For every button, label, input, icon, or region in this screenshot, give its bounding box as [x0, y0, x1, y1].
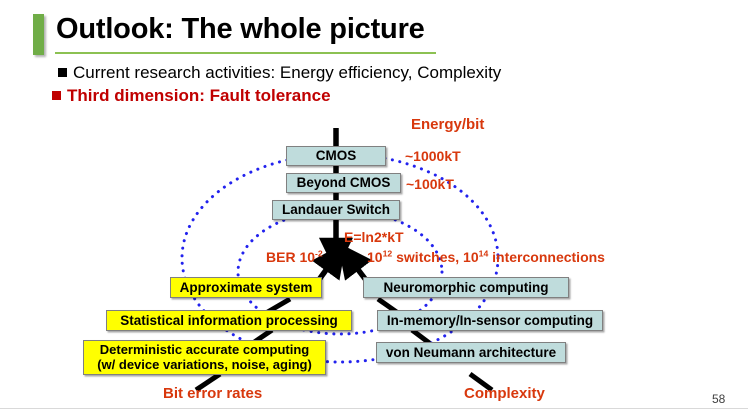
box-deterministic-accurate-computing[interactable]: Deterministic accurate computing (w/ dev…: [83, 340, 326, 375]
box-von-neumann-architecture[interactable]: von Neumann architecture: [376, 342, 566, 363]
box-cmos[interactable]: CMOS: [286, 146, 386, 166]
page-title: Outlook: The whole picture: [56, 13, 425, 46]
label-interconnect-text: interconnections: [488, 249, 605, 265]
label-complexity: Complexity: [464, 385, 545, 402]
label-energy-per-bit: Energy/bit: [411, 116, 484, 133]
box-label: Neuromorphic computing: [384, 280, 549, 295]
box-label: CMOS: [316, 148, 357, 163]
box-statistical-information-processing[interactable]: Statistical information processing: [106, 310, 352, 331]
box-label-line-1: Deterministic accurate computing: [100, 343, 310, 358]
label-switches-mid: switches, 10: [392, 249, 478, 265]
label-beyond-cmos-energy: ~100kT: [406, 176, 454, 192]
box-neuromorphic-computing[interactable]: Neuromorphic computing: [363, 277, 569, 298]
box-label: Approximate system: [180, 280, 313, 295]
label-ber-text: BER 10: [266, 249, 315, 265]
box-label: von Neumann architecture: [386, 345, 556, 360]
label-switches-interconnections: 1012 switches, 1014 interconnections: [367, 249, 605, 265]
square-bullet-icon: [58, 68, 67, 77]
box-label: Statistical information processing: [120, 313, 338, 328]
bullet-label: Third dimension: Fault tolerance: [67, 86, 331, 105]
box-label: Landauer Switch: [282, 202, 390, 217]
label-switches-base: 10: [367, 249, 383, 265]
title-underline: [55, 52, 436, 54]
label-cmos-energy: ~1000kT: [405, 148, 461, 164]
footer-divider: [0, 408, 748, 409]
label-landauer-energy: E=ln2*kT: [344, 229, 404, 245]
title-accent-bar: [33, 14, 44, 55]
bullet-item-research-activities: Current research activities: Energy effi…: [58, 63, 501, 83]
box-beyond-cmos[interactable]: Beyond CMOS: [286, 173, 401, 193]
box-label-line-2: (w/ device variations, noise, aging): [97, 358, 312, 373]
box-landauer-switch[interactable]: Landauer Switch: [272, 200, 400, 220]
label-ber-exponent: -2: [315, 248, 323, 258]
label-switches-exponent: 12: [383, 248, 393, 258]
box-in-memory-in-sensor-computing[interactable]: In-memory/In-sensor computing: [377, 310, 603, 331]
page-number: 58: [712, 392, 725, 406]
slide-canvas: Outlook: The whole picture Current resea…: [0, 0, 748, 420]
box-label: Beyond CMOS: [297, 175, 391, 190]
label-bit-error-rates: Bit error rates: [163, 385, 262, 402]
label-interconnect-exponent: 14: [479, 248, 489, 258]
square-bullet-icon: [52, 91, 61, 100]
bullet-label: Current research activities: Energy effi…: [73, 63, 501, 82]
label-bit-error-rate: BER 10-2: [266, 249, 323, 265]
bullet-item-third-dimension: Third dimension: Fault tolerance: [52, 86, 331, 106]
box-approximate-system[interactable]: Approximate system: [170, 277, 322, 298]
box-label: In-memory/In-sensor computing: [387, 313, 593, 328]
